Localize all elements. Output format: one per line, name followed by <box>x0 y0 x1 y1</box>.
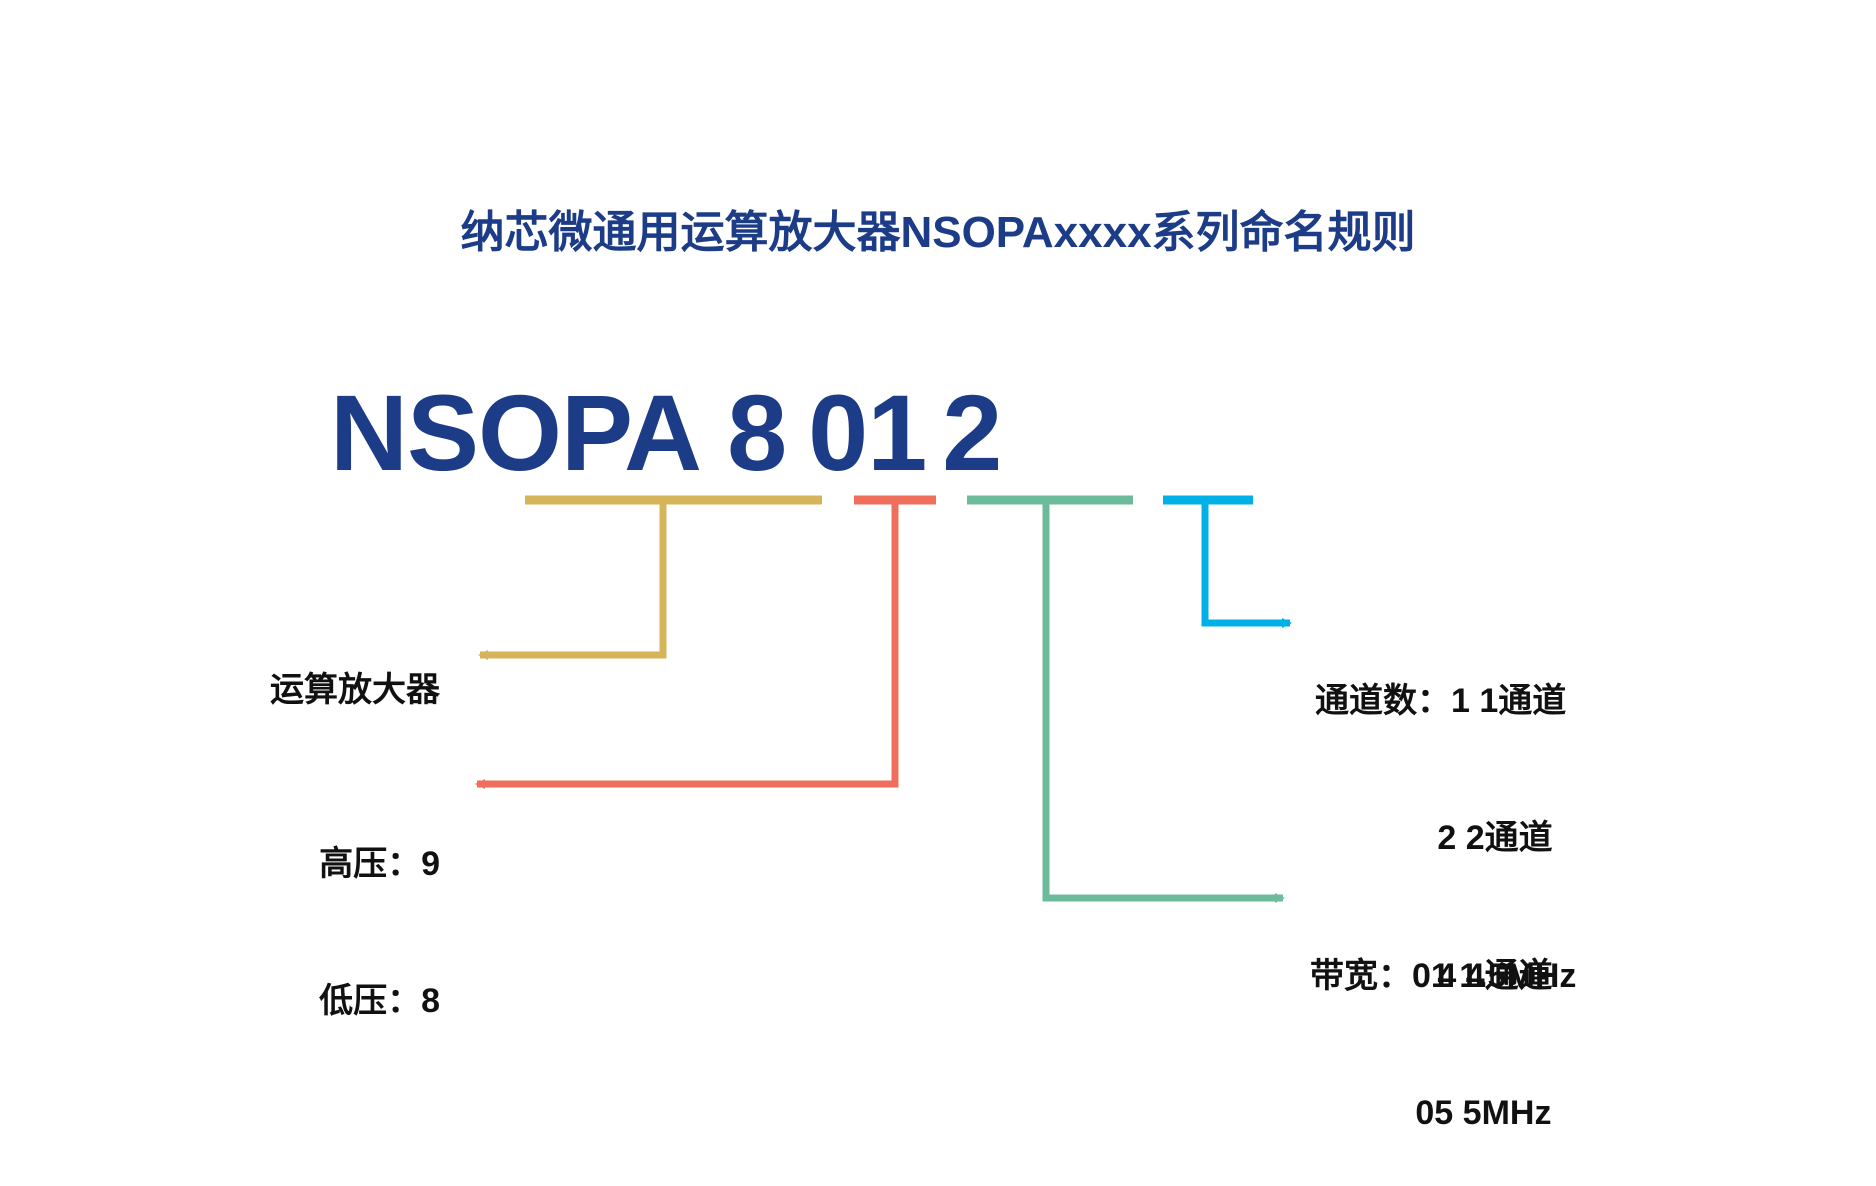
callout-channel-line-2: 2 2通道 <box>1315 816 1566 862</box>
part-number-display: NSOPA 8 01 2 <box>330 370 1001 495</box>
callout-bandwidth-line-2: 05 5MHz <box>1310 1091 1576 1137</box>
part-number-channel-digit: 2 <box>942 370 1001 495</box>
part-number-bandwidth-digits: 01 <box>808 370 926 495</box>
callout-bandwidth: 带宽：01 1.5MHz 05 5MHz 10 10MHz <box>1310 862 1576 1186</box>
connector-op-amp <box>480 500 822 655</box>
callout-bandwidth-line-1: 带宽：01 1.5MHz <box>1310 954 1576 1000</box>
callout-channel-line-1: 通道数：1 1通道 <box>1315 679 1566 725</box>
naming-rule-diagram: 纳芯微通用运算放大器NSOPAxxxx系列命名规则 NSOPA 8 01 2 运… <box>0 0 1876 1186</box>
connector-channel <box>1163 500 1290 623</box>
part-number-prefix: NSOPA <box>330 370 701 495</box>
page-title: 纳芯微通用运算放大器NSOPAxxxx系列命名规则 <box>0 196 1876 260</box>
callout-op-amp-label: 运算放大器 <box>270 671 440 709</box>
callout-voltage: 高压：9 低压：8 <box>130 750 440 1117</box>
part-number-voltage-digit: 8 <box>727 370 786 495</box>
callout-voltage-line-low: 低压：8 <box>130 979 440 1025</box>
connector-voltage <box>477 500 936 784</box>
callout-op-amp: 运算放大器 <box>150 622 440 760</box>
connector-bandwidth <box>967 500 1283 898</box>
callout-voltage-line-high: 高压：9 <box>130 842 440 888</box>
